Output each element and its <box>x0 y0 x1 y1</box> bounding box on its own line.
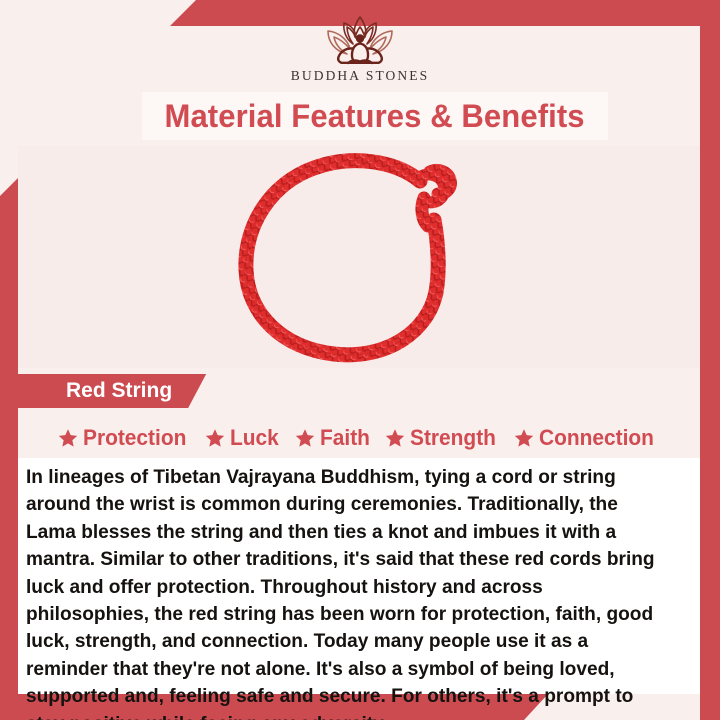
frame-left-bar <box>0 0 18 720</box>
benefit-item-luck: Luck <box>205 425 281 451</box>
red-braided-cord-bracelet-icon <box>224 146 494 368</box>
star-icon <box>295 428 315 448</box>
benefit-label: Strength <box>410 425 496 451</box>
product-label-banner: Red String <box>18 374 206 408</box>
poster-root: BUDDHA STONES Material Features & Benefi… <box>0 0 720 720</box>
benefit-item-connection: Connection <box>514 425 660 451</box>
page-title-band: Material Features & Benefits <box>142 92 608 140</box>
page-title: Material Features & Benefits <box>165 98 585 135</box>
brand-logo: BUDDHA STONES <box>0 14 720 92</box>
star-icon <box>58 428 78 448</box>
star-icon <box>385 428 405 448</box>
description-block: In lineages of Tibetan Vajrayana Buddhis… <box>18 458 700 694</box>
benefit-label: Connection <box>539 425 654 451</box>
star-icon <box>514 428 534 448</box>
lotus-meditation-icon <box>304 14 416 66</box>
benefit-label: Luck <box>230 425 279 451</box>
product-label: Red String <box>66 379 172 403</box>
benefits-keyword-row: Protection Luck Faith Strength Connectio <box>18 420 700 456</box>
product-image-area <box>18 146 700 368</box>
benefit-item-faith: Faith <box>295 425 373 451</box>
benefit-item-strength: Strength <box>385 425 500 451</box>
description-text: In lineages of Tibetan Vajrayana Buddhis… <box>26 464 668 720</box>
benefit-item-protection: Protection <box>58 425 192 451</box>
frame-right-bar <box>700 0 720 720</box>
benefit-label: Protection <box>83 425 186 451</box>
star-icon <box>205 428 225 448</box>
brand-name: BUDDHA STONES <box>291 68 429 84</box>
benefit-label: Faith <box>320 425 370 451</box>
